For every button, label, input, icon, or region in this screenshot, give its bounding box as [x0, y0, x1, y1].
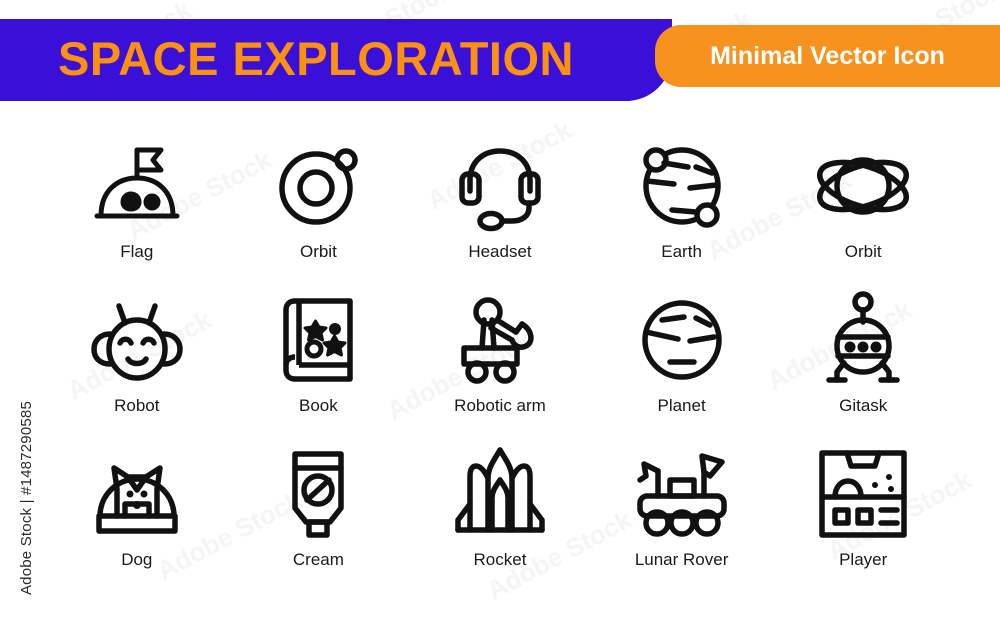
lunar-rover-icon	[628, 440, 736, 548]
icon-cell-player[interactable]: Player	[772, 440, 954, 594]
icon-cell-rocket[interactable]: Rocket	[409, 440, 591, 594]
icon-cell-cream[interactable]: Cream	[228, 440, 410, 594]
icon-label: Dog	[121, 550, 152, 570]
icon-cell-headset[interactable]: Headset	[409, 132, 591, 286]
icon-label: Player	[839, 550, 887, 570]
icon-label: Robotic arm	[454, 396, 546, 416]
icon-label: Orbit	[300, 242, 337, 262]
robot-face-icon	[83, 286, 191, 394]
icon-cell-robotic-arm[interactable]: Robotic arm	[409, 286, 591, 440]
icon-cell-robot[interactable]: Robot	[46, 286, 228, 440]
header-subtitle: Minimal Vector Icon	[655, 25, 1000, 87]
planet-icon	[628, 286, 736, 394]
player-screen-icon	[809, 440, 917, 548]
icon-grid: Flag Orbit Headset	[46, 132, 954, 594]
icon-label: Earth	[661, 242, 702, 262]
book-icon	[264, 286, 372, 394]
icon-label: Rocket	[474, 550, 527, 570]
icon-label: Cream	[293, 550, 344, 570]
icon-cell-planet[interactable]: Planet	[591, 286, 773, 440]
icon-label: Orbit	[845, 242, 882, 262]
icon-label: Robot	[114, 396, 159, 416]
icon-label: Flag	[120, 242, 153, 262]
cream-tube-icon	[264, 440, 372, 548]
icon-label: Gitask	[839, 396, 887, 416]
icon-cell-orbit-satellite[interactable]: Orbit	[228, 132, 410, 286]
robot-lander-icon	[809, 286, 917, 394]
icon-cell-lunar-rover[interactable]: Lunar Rover	[591, 440, 773, 594]
icon-cell-earth[interactable]: Earth	[591, 132, 773, 286]
earth-globe-icon	[628, 132, 736, 240]
icon-cell-gitask[interactable]: Gitask	[772, 286, 954, 440]
rocket-shuttle-icon	[446, 440, 554, 548]
icon-cell-dog[interactable]: Dog	[46, 440, 228, 594]
orbit-satellite-icon	[264, 132, 372, 240]
icon-cell-orbit-rings[interactable]: Orbit	[772, 132, 954, 286]
headset-icon	[446, 132, 554, 240]
icon-label: Planet	[657, 396, 705, 416]
flag-on-hill-icon	[83, 132, 191, 240]
orbit-rings-icon	[809, 132, 917, 240]
icon-label: Headset	[468, 242, 531, 262]
icon-label: Book	[299, 396, 338, 416]
page-title: SPACE EXPLORATION	[58, 19, 574, 101]
space-dog-helmet-icon	[83, 440, 191, 548]
header-orange-badge: Minimal Vector Icon	[655, 25, 1000, 87]
icon-cell-flag[interactable]: Flag	[46, 132, 228, 286]
icon-cell-book[interactable]: Book	[228, 286, 410, 440]
adobe-stock-watermark: Adobe Stock | #1487290585	[18, 373, 38, 623]
icon-label: Lunar Rover	[635, 550, 729, 570]
header-banner: SPACE EXPLORATION Minimal Vector Icon	[0, 19, 1000, 101]
robotic-arm-icon	[446, 286, 554, 394]
